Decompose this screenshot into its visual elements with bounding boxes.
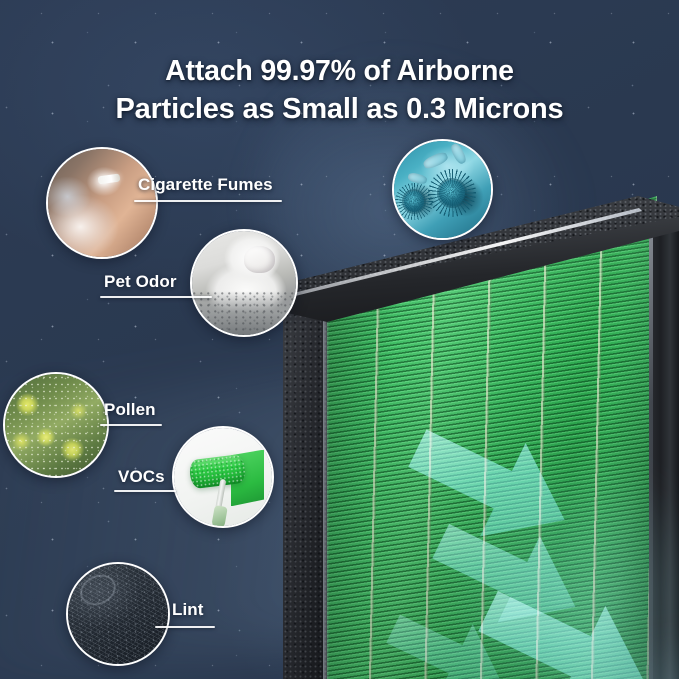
- pet-odor-bubble: [190, 229, 298, 337]
- cigarette-fumes-leader-line: [134, 200, 282, 202]
- germs-image: [394, 141, 491, 238]
- pet-odor-label: Pet Odor: [104, 272, 177, 292]
- pollen-image: [5, 374, 107, 476]
- vocs-bubble: [172, 426, 274, 528]
- pollen-leader-line: [100, 424, 162, 426]
- pet-odor-leader-line: [100, 296, 212, 298]
- vocs-image: [174, 428, 272, 526]
- hepa-filter-product: [283, 196, 679, 679]
- lint-leader-line: [155, 626, 215, 628]
- pet-odor-image: [192, 231, 296, 335]
- airflow-glow-lower: [583, 626, 679, 679]
- germs-bubble: [392, 139, 493, 240]
- pollen-label: Pollen: [104, 400, 156, 420]
- product-infographic: Attach 99.97% of Airborne Particles as S…: [0, 0, 679, 679]
- filter-frame-left-lip: [323, 300, 329, 679]
- cigarette-fumes-label: Cigarette Fumes: [138, 175, 273, 195]
- vocs-leader-line: [114, 490, 176, 492]
- paint-roller-grip: [211, 505, 227, 528]
- lint-image: [68, 564, 168, 664]
- pollen-bubble: [3, 372, 109, 478]
- germ-rod-icon: [422, 150, 449, 170]
- germ-spike-icon: [404, 191, 424, 211]
- germ-rod-icon: [450, 142, 469, 165]
- cigarette-fumes-image: [48, 149, 156, 257]
- lint-bubble: [66, 562, 170, 666]
- lint-label: Lint: [172, 600, 204, 620]
- germ-spike-icon: [439, 180, 465, 206]
- vocs-label: VOCs: [118, 467, 165, 487]
- cigarette-fumes-bubble: [46, 147, 158, 259]
